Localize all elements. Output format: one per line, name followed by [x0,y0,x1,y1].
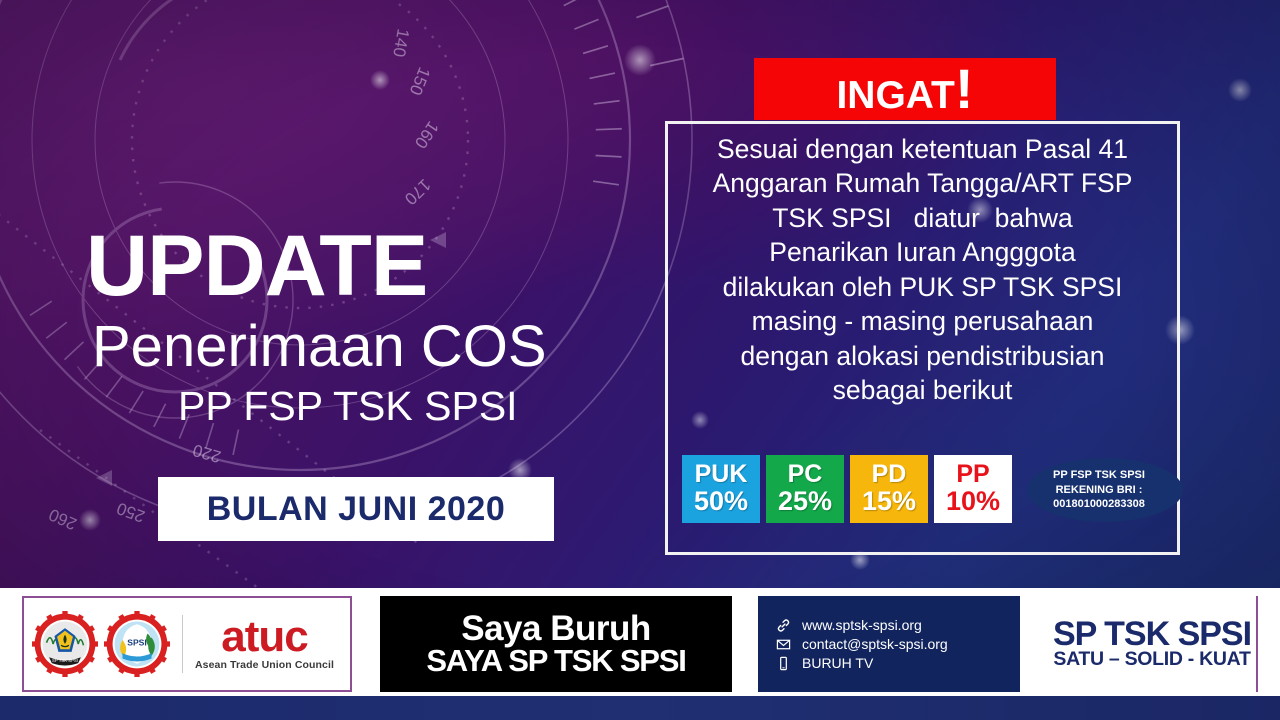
badge-label: PD [872,462,907,488]
badge-label: PUK [695,462,748,488]
brand-box: SP TSK SPSI SATU – SOLID - KUAT [1048,596,1258,692]
allocation-badge-pp: PP 10% [934,455,1012,523]
contact-email-text: contact@sptsk-spsi.org [802,636,948,652]
atuc-wordmark: atuc [221,617,307,657]
notice-line: dengan alokasi pendistribusian [678,339,1167,373]
atuc-subtitle: Asean Trade Union Council [195,659,334,671]
badge-value: 10% [946,488,1000,516]
allocation-badge-puk: PUK 50% [682,455,760,523]
headline-subtitle: Penerimaan COS [92,317,646,378]
allocation-badges: PUK 50% PC 25% PD 15% PP 10% [682,455,1012,523]
notice-line: dilakukan oleh PUK SP TSK SPSI [678,270,1167,304]
callout-line-2: REKENING BRI : [1056,483,1143,498]
notice-line: Penarikan Iuran Angggota [678,235,1167,269]
badge-value: 50% [694,488,748,516]
footer-logos: SP TSK SPSI [22,596,352,692]
email-icon [776,637,791,652]
callout-line-3: 001801000283308 [1053,497,1145,512]
month-badge: BULAN JUNI 2020 [158,477,554,541]
brand-line-1: SP TSK SPSI [1053,618,1251,650]
badge-label: PP [956,462,989,488]
contact-tv-text: BURUH TV [802,655,873,671]
link-icon [776,618,791,633]
callout-text: PP FSP TSK SPSI REKENING BRI : 001801000… [1013,452,1185,528]
spsi-emblem-icon: SPSI [104,611,170,677]
month-badge-label: BULAN JUNI 2020 [207,490,505,529]
headline-org: PP FSP TSK SPSI [178,384,646,429]
alert-banner-label: Ingat! [836,61,973,117]
notice-text: Sesuai dengan ketentuan Pasal 41 Anggara… [678,132,1167,408]
slogan-line-2: SAYA SP TSK SPSI [426,646,685,676]
notice-line: masing - masing perusahaan [678,304,1167,338]
slogan-line-1: Saya Buruh [461,612,651,646]
headline-update: Update [86,196,646,313]
slogan-box: Saya Buruh SAYA SP TSK SPSI [380,596,732,692]
notice-line: TSK SPSI diatur bahwa [678,201,1167,235]
footer-bar: SP TSK SPSI [0,588,1280,720]
svg-text:SPSI: SPSI [127,637,147,647]
svg-text:SP TSK SPSI: SP TSK SPSI [52,658,78,663]
notice-line: Anggaran Rumah Tangga/ART FSP [678,166,1167,200]
notice-line: sebagai berikut [678,373,1167,407]
contact-website-text: www.sptsk-spsi.org [802,617,922,633]
poster-canvas: 140 150 160 170 220 250 260 Update Pener… [0,0,1280,720]
brand-line-2: SATU – SOLID - KUAT [1053,650,1250,670]
mobile-icon [776,656,791,671]
contact-row-email[interactable]: contact@sptsk-spsi.org [776,636,1020,652]
badge-value: 15% [862,488,916,516]
bank-account-callout: PP FSP TSK SPSI REKENING BRI : 001801000… [1013,452,1185,528]
callout-line-1: PP FSP TSK SPSI [1053,468,1145,483]
contact-row-website[interactable]: www.sptsk-spsi.org [776,617,1020,633]
headline-block: Update Penerimaan COS PP FSP TSK SPSI [86,196,646,429]
footer-content: SP TSK SPSI [22,596,1258,692]
sptsk-spsi-emblem-icon: SP TSK SPSI [32,611,98,677]
notice-line: Sesuai dengan ketentuan Pasal 41 [678,132,1167,166]
alert-banner: Ingat! [754,58,1056,120]
allocation-badge-pc: PC 25% [766,455,844,523]
footer-bottom-strip [0,696,1280,720]
logo-divider [182,615,183,673]
badge-value: 25% [778,488,832,516]
badge-label: PC [788,462,823,488]
contact-box: www.sptsk-spsi.org contact@sptsk-spsi.or… [758,596,1020,692]
contact-row-tv[interactable]: BURUH TV [776,655,1020,671]
atuc-logo: atuc Asean Trade Union Council [195,617,334,671]
allocation-badge-pd: PD 15% [850,455,928,523]
